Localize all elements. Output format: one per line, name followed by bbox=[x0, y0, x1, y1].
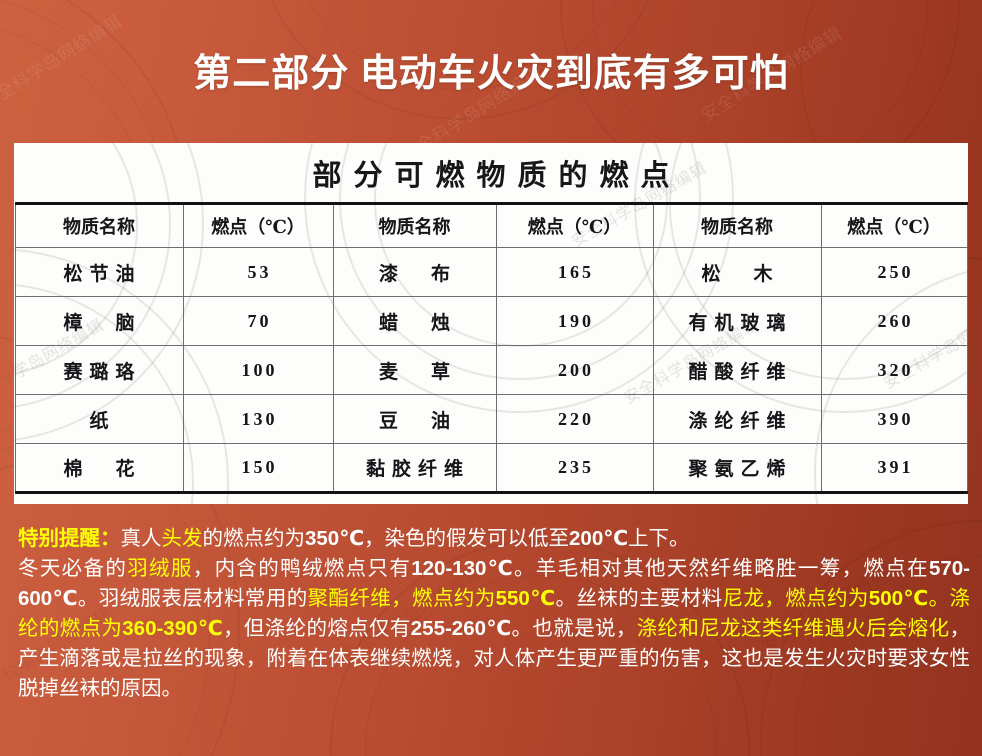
table-cell-substance: 漆 布 bbox=[333, 248, 496, 297]
table-cell-value: 320 bbox=[821, 346, 967, 395]
note-segment-highlight: 聚酯纤维，燃点约为 bbox=[308, 587, 496, 610]
table-cell-value: 100 bbox=[183, 346, 333, 395]
table-header-cell: 物质名称 bbox=[333, 204, 496, 248]
note-segment: ，但涤纶的熔点仅有 bbox=[223, 617, 411, 640]
table-row: 棉 花 150 黏胶纤维 235 聚氨乙烯 391 bbox=[15, 444, 967, 493]
table-cell-value: 391 bbox=[821, 444, 967, 493]
note-segment: ，内含的鸭绒燃点只有 bbox=[193, 557, 411, 580]
note-label: 特别提醒： bbox=[18, 527, 121, 550]
table-row: 松节油 53 漆 布 165 松 木 250 bbox=[15, 248, 967, 297]
note-segment-highlight: 360-390℃ bbox=[122, 617, 223, 640]
note-segment-highlight: 500℃ bbox=[869, 587, 929, 610]
note-segment: 。也就是说， bbox=[512, 617, 637, 640]
table-header-row: 物质名称 燃点（℃） 物质名称 燃点（℃） 物质名称 燃点（℃） bbox=[15, 204, 967, 248]
note-segment-highlight: 涤纶和尼龙这类纤维遇火后会熔化 bbox=[637, 617, 950, 640]
table-cell-substance: 黏胶纤维 bbox=[333, 444, 496, 493]
note-segment-highlight: 尼龙，燃点约为 bbox=[723, 587, 869, 610]
table-cell-value: 235 bbox=[496, 444, 653, 493]
note-segment: 的燃点约为 bbox=[203, 527, 306, 550]
table-header-cell: 物质名称 bbox=[15, 204, 183, 248]
page-title-text: 第二部分 电动车火灾到底有多可怕 bbox=[193, 42, 789, 97]
burning-point-table: 物质名称 燃点（℃） 物质名称 燃点（℃） 物质名称 燃点（℃） 松节油 53 … bbox=[15, 202, 968, 494]
table-cell-value: 150 bbox=[183, 444, 333, 493]
note-segment: 冬天必备的 bbox=[18, 557, 127, 580]
table-row: 樟 脑 70 蜡 烛 190 有机玻璃 260 bbox=[15, 297, 967, 346]
table-cell-substance: 豆 油 bbox=[333, 395, 496, 444]
page-title: 第二部分 电动车火灾到底有多可怕 bbox=[0, 42, 982, 97]
note-segment: 上下。 bbox=[628, 527, 690, 550]
table-cell-substance: 涤纶纤维 bbox=[653, 395, 821, 444]
table-cell-substance: 松节油 bbox=[15, 248, 183, 297]
table-cell-substance: 麦 草 bbox=[333, 346, 496, 395]
note-segment-bold: 350℃ bbox=[305, 527, 364, 550]
table-cell-value: 220 bbox=[496, 395, 653, 444]
table-title: 部分可燃物质的燃点 bbox=[14, 143, 968, 194]
table-cell-value: 70 bbox=[183, 297, 333, 346]
note-segment-highlight: 550℃ bbox=[496, 587, 556, 610]
table-cell-substance: 松 木 bbox=[653, 248, 821, 297]
note-segment-bold: 255-260℃ bbox=[411, 617, 512, 640]
table-cell-value: 190 bbox=[496, 297, 653, 346]
table-cell-value: 250 bbox=[821, 248, 967, 297]
note-segment: ，染色的假发可以低至 bbox=[364, 527, 569, 550]
note-segment: 真人 bbox=[121, 527, 162, 550]
note-segment-highlight: 。 bbox=[929, 587, 950, 610]
table-cell-substance: 樟 脑 bbox=[15, 297, 183, 346]
table-cell-substance: 蜡 烛 bbox=[333, 297, 496, 346]
table-cell-substance: 有机玻璃 bbox=[653, 297, 821, 346]
table-cell-value: 53 bbox=[183, 248, 333, 297]
note-segment-highlight: 头发 bbox=[162, 527, 203, 550]
note-segment-bold: 200℃ bbox=[569, 527, 628, 550]
table-cell-substance: 棉 花 bbox=[15, 444, 183, 493]
table-header-cell: 燃点（℃） bbox=[183, 204, 333, 248]
table-cell-substance: 纸 bbox=[15, 395, 183, 444]
note-segment-bold: 120-130℃ bbox=[411, 557, 514, 580]
table-header-cell: 燃点（℃） bbox=[821, 204, 967, 248]
special-reminder-note: 特别提醒：真人头发的燃点约为350℃，染色的假发可以低至200℃上下。冬天必备的… bbox=[18, 524, 970, 704]
table-cell-substance: 赛璐珞 bbox=[15, 346, 183, 395]
note-segment-highlight: 羽绒服 bbox=[127, 557, 193, 580]
table-header-cell: 燃点（℃） bbox=[496, 204, 653, 248]
table-cell-substance: 醋酸纤维 bbox=[653, 346, 821, 395]
table-cell-value: 165 bbox=[496, 248, 653, 297]
note-segment: 。羽绒服表层材料常用的 bbox=[78, 587, 308, 610]
slide-canvas: 安全科学岛网络编辑 安全科学岛网络编辑 安全科学岛网络编辑 安全科学岛网络编辑 … bbox=[0, 0, 982, 756]
table-cell-value: 260 bbox=[821, 297, 967, 346]
table-header-cell: 物质名称 bbox=[653, 204, 821, 248]
table-cell-substance: 聚氨乙烯 bbox=[653, 444, 821, 493]
table-panel: 安全科学岛网络编辑 安全科学岛网络编辑 安全科学岛网络编辑 安全科学岛网络编辑 … bbox=[14, 143, 968, 504]
note-segment: 。丝袜的主要材料 bbox=[555, 587, 722, 610]
table-cell-value: 390 bbox=[821, 395, 967, 444]
note-segment: 。羊毛相对其他天然纤维略胜一筹，燃点在 bbox=[514, 557, 929, 580]
table-cell-value: 200 bbox=[496, 346, 653, 395]
table-row: 纸 130 豆 油 220 涤纶纤维 390 bbox=[15, 395, 967, 444]
table-row: 赛璐珞 100 麦 草 200 醋酸纤维 320 bbox=[15, 346, 967, 395]
table-cell-value: 130 bbox=[183, 395, 333, 444]
